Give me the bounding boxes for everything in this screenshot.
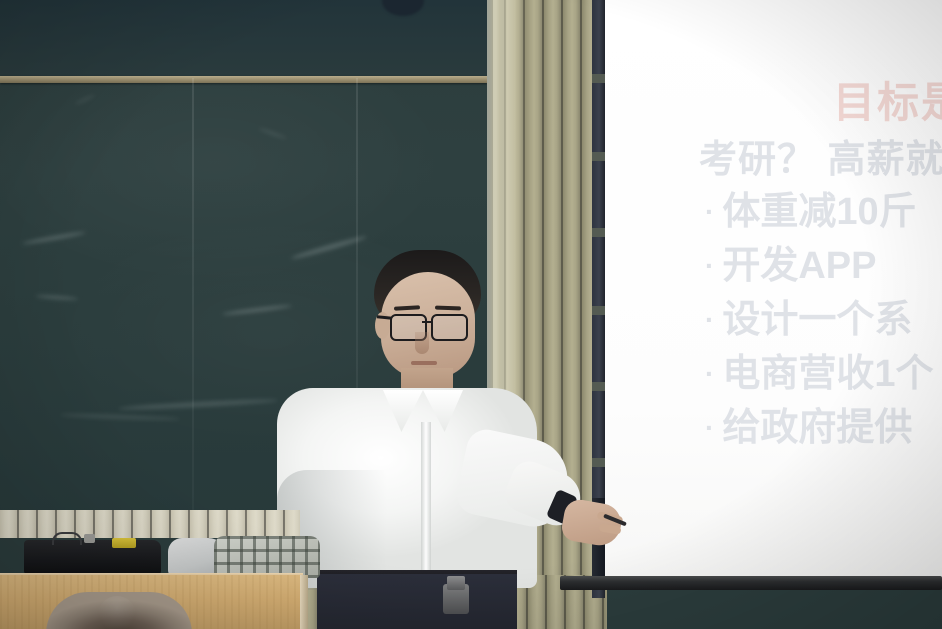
shirt-placket [421, 422, 431, 588]
slide-title: 目标是 [833, 69, 942, 130]
chalk-smudge [60, 413, 180, 421]
slide-subtitle: 考研？ 高薪就 [699, 128, 942, 183]
nose [415, 332, 429, 354]
chalk-smudge [118, 398, 278, 411]
list-item: · 开发APP [705, 239, 933, 293]
list-item-label: 体重减10斤 [722, 185, 916, 239]
list-item-label: 电商营收1个 [722, 347, 933, 401]
slide: 目标是 考研？ 高薪就 · 体重减10斤 · 开发APP · 设计一个系 · 电… [605, 0, 942, 582]
screen-border-notch [592, 152, 605, 161]
bullet-icon: · [705, 198, 714, 226]
podium-side-edge [300, 575, 308, 629]
bag-buckle [84, 534, 95, 543]
black-bag [24, 540, 161, 575]
glasses-icon [431, 314, 468, 341]
screen-border-notch [592, 228, 605, 237]
slide-bullet-list: · 体重减10斤 · 开发APP · 设计一个系 · 电商营收1个 · 给政 [705, 185, 933, 455]
list-item: · 体重减10斤 [705, 185, 933, 239]
screen-border-notch [592, 74, 605, 83]
eyebrow [435, 306, 461, 311]
trousers [317, 574, 517, 629]
chalk-smudge [36, 295, 78, 301]
seated-student-head [46, 592, 192, 629]
bullet-icon: · [705, 414, 714, 442]
chalk-smudge [258, 127, 287, 140]
plaid-cloth [214, 536, 320, 578]
list-item-label: 开发APP [722, 239, 876, 293]
bullet-icon: · [705, 252, 714, 280]
desk-back-wall [0, 510, 300, 538]
projector-screen: 目标是 考研？ 高薪就 · 体重减10斤 · 开发APP · 设计一个系 · 电… [605, 0, 942, 582]
list-item-label: 设计一个系 [722, 293, 912, 347]
list-item: · 设计一个系 [705, 293, 933, 347]
classroom-photo: 目标是 考研？ 高薪就 · 体重减10斤 · 开发APP · 设计一个系 · 电… [0, 0, 942, 629]
blackboard-mid-rail [0, 76, 487, 83]
bullet-icon: · [705, 360, 714, 388]
bag-handle [52, 532, 82, 545]
blackboard-seam [192, 78, 194, 519]
belt-buckle [447, 576, 465, 590]
glasses-bridge [422, 321, 432, 323]
list-item-label: 给政府提供 [722, 401, 912, 455]
yellow-object [112, 538, 136, 548]
mouth [411, 361, 437, 365]
chalk-smudge [74, 93, 95, 105]
bullet-icon: · [705, 306, 714, 334]
chalk-smudge [22, 230, 86, 245]
list-item: · 电商营收1个 [705, 347, 933, 401]
list-item: · 给政府提供 [705, 401, 933, 455]
